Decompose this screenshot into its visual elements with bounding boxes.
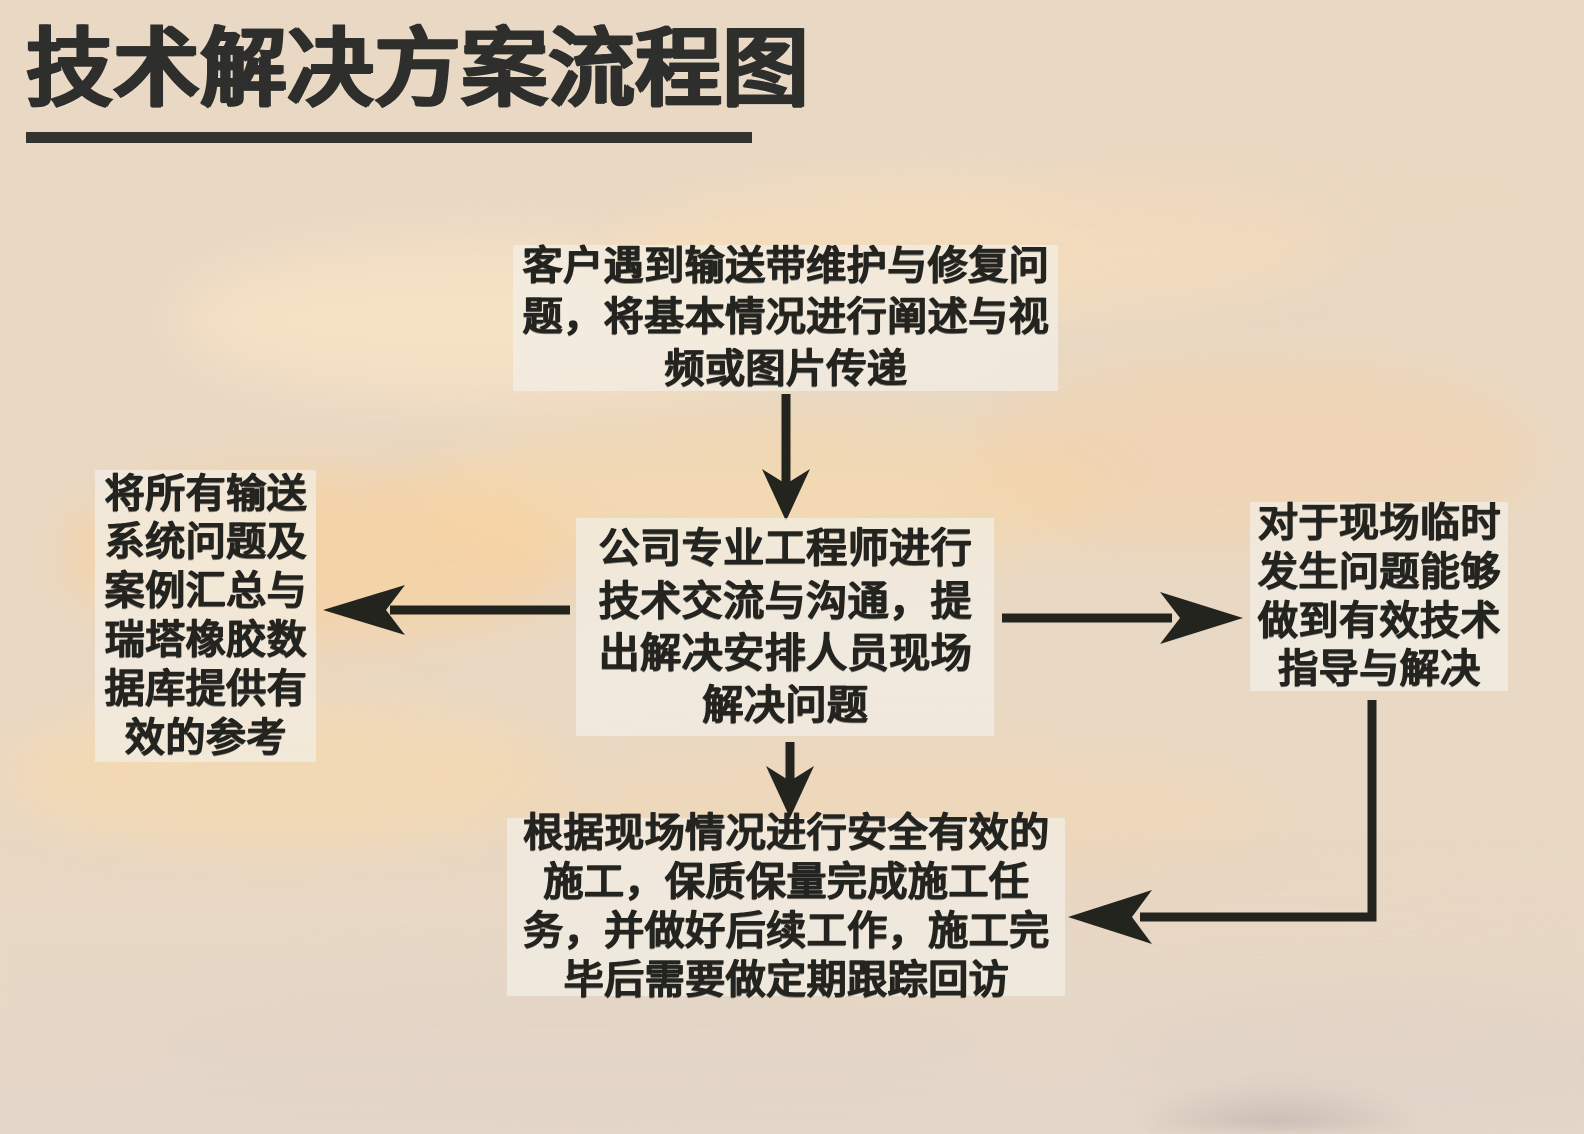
node-customer-issue[interactable]: 客户遇到输送带维护与修复问题，将基本情况进行阐述与视频或图片传递 xyxy=(513,245,1058,391)
node-customer-issue-text: 客户遇到输送带维护与修复问题，将基本情况进行阐述与视频或图片传递 xyxy=(521,241,1050,395)
node-engineer-communication[interactable]: 公司专业工程师进行技术交流与沟通，提出解决安排人员现场解决问题 xyxy=(576,518,994,736)
title-underline-rule xyxy=(26,132,752,143)
node-database-summary[interactable]: 将所有输送系统问题及案例汇总与瑞塔橡胶数据库提供有效的参考 xyxy=(95,470,316,762)
flowchart-canvas: 技术解决方案流程图 客户遇到输送带维护与修复问题，将 xyxy=(0,0,1584,1134)
node-construction-followup[interactable]: 根据现场情况进行安全有效的施工，保质保量完成施工任务，并做好后续工作，施工完毕后… xyxy=(507,818,1065,996)
node-onsite-guidance[interactable]: 对于现场临时发生问题能够做到有效技术指导与解决 xyxy=(1250,502,1508,691)
node-onsite-guidance-text: 对于现场临时发生问题能够做到有效技术指导与解决 xyxy=(1256,499,1502,694)
node-engineer-communication-text: 公司专业工程师进行技术交流与沟通，提出解决安排人员现场解决问题 xyxy=(586,522,984,732)
cloud-shape xyxy=(1050,120,1570,270)
page-title-text: 技术解决方案流程图 xyxy=(26,26,766,114)
node-database-summary-text: 将所有输送系统问题及案例汇总与瑞塔橡胶数据库提供有效的参考 xyxy=(101,470,310,763)
mountain-ridge xyxy=(1150,1040,1570,1130)
page-title: 技术解决方案流程图 xyxy=(26,26,766,143)
node-construction-followup-text: 根据现场情况进行安全有效的施工，保质保量完成施工任务，并做好后续工作，施工完毕后… xyxy=(515,809,1057,1004)
